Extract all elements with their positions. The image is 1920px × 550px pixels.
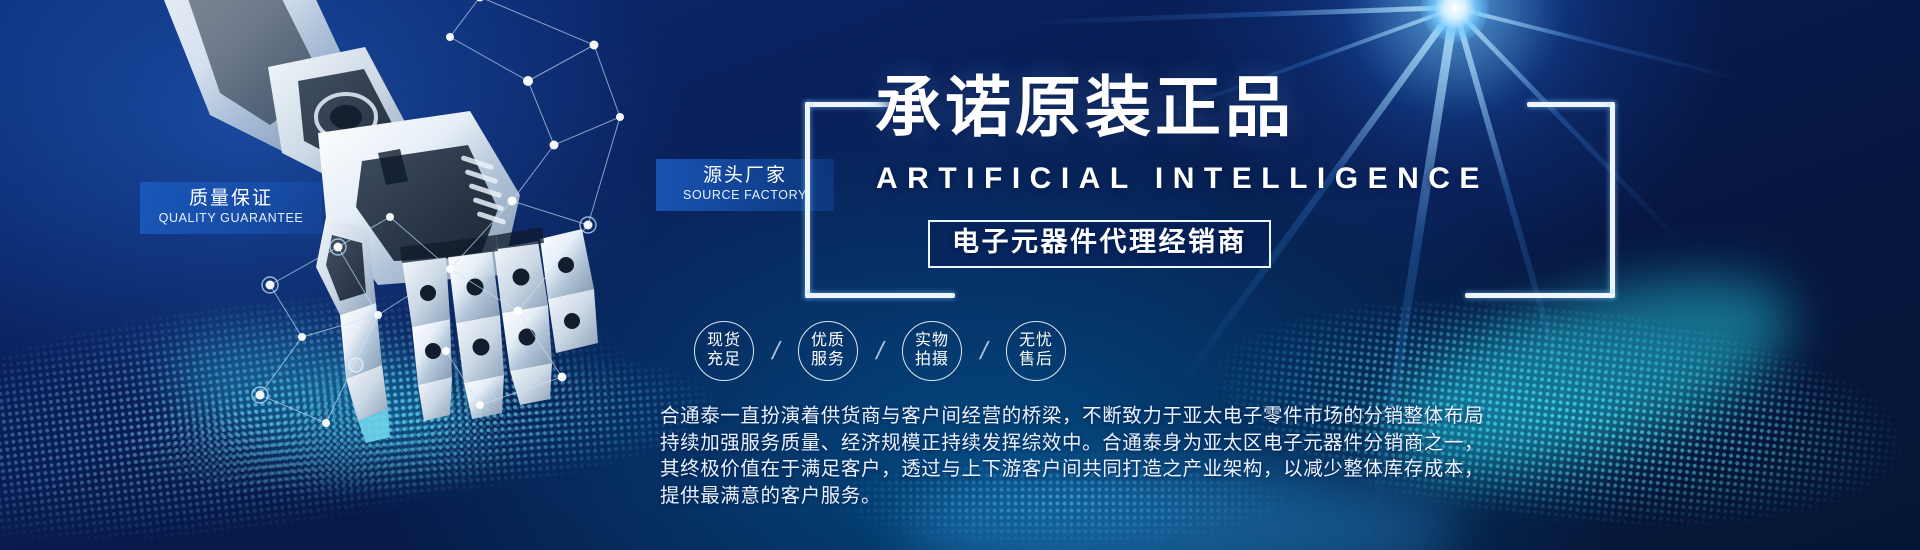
feature-badge-service-line1: 优质 xyxy=(811,332,845,351)
page-subtitle-en: ARTIFICIAL INTELLIGENCE xyxy=(876,164,1489,194)
feature-badge-service[interactable]: 优质 服务 xyxy=(798,321,858,381)
feature-badge-photo[interactable]: 实物 拍摄 xyxy=(902,321,962,381)
badge-quality-guarantee: 质量保证 QUALITY GUARANTEE xyxy=(140,182,322,234)
feature-badge-aftersales[interactable]: 无忧 售后 xyxy=(1006,321,1066,381)
feature-badge-aftersales-line2: 售后 xyxy=(1019,351,1053,370)
description-line: 持续加强服务质量、经济规模正持续发挥综效中。合通泰身为亚太区电子元器件分销商之一… xyxy=(660,430,1785,457)
promo-banner: 质量保证 QUALITY GUARANTEE 源头厂家 SOURCE FACTO… xyxy=(0,0,1920,550)
description-line: 合通泰一直扮演着供货商与客户间经营的桥梁，不断致力于亚太电子零件市场的分销整体布… xyxy=(660,403,1785,430)
feature-badge-aftersales-line1: 无忧 xyxy=(1019,332,1053,351)
badge-separator: / xyxy=(751,337,801,366)
badge-quality-guarantee-cn: 质量保证 xyxy=(154,188,308,210)
subtitle-box: 电子元器件代理经销商 xyxy=(928,220,1271,268)
badge-separator: / xyxy=(855,337,905,366)
headline-block: 承诺原装正品 ARTIFICIAL INTELLIGENCE 电子元器件代理经销… xyxy=(660,78,1780,518)
feature-badge-stock-line2: 充足 xyxy=(707,351,741,370)
page-title: 承诺原装正品 xyxy=(875,74,1295,140)
feature-badge-service-line2: 服务 xyxy=(811,351,845,370)
feature-badge-list: 现货 充足 / 优质 服务 / 实物 拍摄 / 无忧 售后 xyxy=(694,321,1066,381)
description-line: 提供最满意的客户服务。 xyxy=(660,483,1785,510)
subtitle-text: 电子元器件代理经销商 xyxy=(952,227,1247,257)
feature-badge-photo-line1: 实物 xyxy=(915,332,949,351)
feature-badge-stock-line1: 现货 xyxy=(707,332,741,351)
description-line: 其终极价值在于满足客户，透过与上下游客户间共同打造之产业架构，以减少整体库存成本… xyxy=(660,456,1785,483)
feature-badge-photo-line2: 拍摄 xyxy=(915,351,949,370)
feature-badge-stock[interactable]: 现货 充足 xyxy=(694,321,754,381)
description-paragraph: 合通泰一直扮演着供货商与客户间经营的桥梁，不断致力于亚太电子零件市场的分销整体布… xyxy=(660,403,1785,509)
badge-quality-guarantee-en: QUALITY GUARANTEE xyxy=(154,210,308,226)
badge-separator: / xyxy=(959,337,1009,366)
